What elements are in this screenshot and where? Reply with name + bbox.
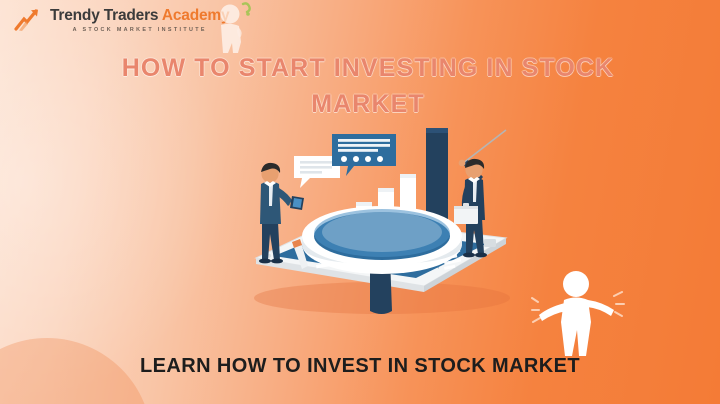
person-celebrating-silhouette [530,258,626,356]
brand-tagline: A STOCK MARKET INSTITUTE [50,28,229,33]
chat-bubble-dark-icon [332,134,396,176]
page-title: HOW TO START INVESTING IN STOCK MARKET [118,50,618,123]
brand-name-primary: Trendy Traders [50,7,162,24]
stock-market-analysis-illustration [248,126,516,316]
brand-logo-text: Trendy Traders Academy A STOCK MARKET IN… [50,8,229,33]
trend-arrow-icon [14,8,44,32]
person-thinking-silhouette [210,2,256,54]
brand-logo[interactable]: Trendy Traders Academy A STOCK MARKET IN… [14,8,229,33]
banner-caption: LEARN HOW TO INVEST IN STOCK MARKET [0,355,720,378]
promo-banner: Trendy Traders Academy A STOCK MARKET IN… [0,0,720,404]
